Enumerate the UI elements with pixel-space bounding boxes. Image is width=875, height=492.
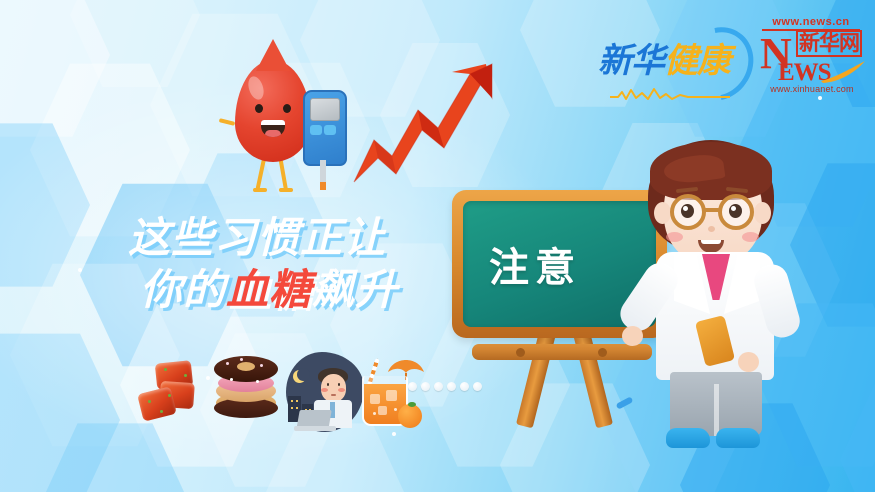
- drop-foot-right: [279, 188, 293, 192]
- habit-icon-donuts: [210, 354, 284, 436]
- drop-mouth: [261, 120, 285, 137]
- swoosh-icon: [820, 60, 866, 84]
- title-line-1: 这些习惯正让: [128, 212, 428, 264]
- doctor-hand-left: [622, 326, 643, 346]
- title-line-2: 你的血糖飙升: [140, 264, 428, 316]
- meter-button-left: [310, 125, 322, 135]
- meter-button-right: [324, 125, 336, 135]
- glucose-meter: [303, 90, 347, 166]
- title-prefix: 你的: [140, 266, 226, 313]
- easel-bolt-left: [516, 348, 525, 357]
- drop-eye-right: [283, 104, 291, 113]
- drop-body: [235, 60, 311, 162]
- drop-arm-left: [219, 118, 235, 126]
- habit-icon-staying-up-late: [286, 352, 364, 432]
- blackboard-text: 注意: [489, 235, 581, 293]
- doctor-blush-left: [666, 232, 683, 242]
- drop-eye-left: [255, 104, 263, 113]
- rising-trend-arrow: [352, 58, 502, 198]
- news-logo-cn-name: 新华网: [796, 33, 862, 55]
- moon-icon: [293, 370, 306, 383]
- drop-teeth: [261, 120, 285, 125]
- cartoon-doctor: [620, 140, 830, 450]
- health-logo-part2: 健康: [664, 42, 730, 80]
- meter-screen: [310, 98, 340, 121]
- drop-highlight: [246, 74, 267, 101]
- xinhua-news-logo[interactable]: www.news.cn N 新华网 EWS www.xinhuanet.com: [760, 16, 864, 96]
- title-suffix: 飙升: [312, 266, 398, 313]
- doctor-pupil-left: [681, 204, 694, 218]
- health-logo-text: 新华健康: [598, 44, 730, 78]
- test-strip-tip: [320, 182, 326, 190]
- drop-foot-left: [253, 188, 267, 192]
- doctor-shoe-left: [666, 428, 710, 448]
- doctor-blush-right: [742, 232, 759, 242]
- doctor-pants-seam: [714, 384, 719, 436]
- doctor-nose: [708, 226, 715, 232]
- title-highlight: 血糖: [226, 266, 312, 313]
- habit-icon-sugary-drink: [356, 354, 430, 436]
- ellipsis-dot: [421, 382, 430, 391]
- ellipsis-dot: [434, 382, 443, 391]
- page-title: 这些习惯正让 你的血糖飙升: [128, 212, 428, 316]
- habit-icon-braised-pork: [138, 356, 212, 438]
- doctor-glasses-bridge: [704, 208, 720, 212]
- drop-tongue: [265, 130, 281, 137]
- doctor-ear-right: [754, 202, 771, 224]
- orange-fruit: [398, 404, 422, 428]
- ellipsis-dot: [408, 382, 417, 391]
- easel-bolt-right: [598, 348, 607, 357]
- xinhua-health-logo[interactable]: 新华健康: [596, 24, 756, 102]
- blood-drop-character: [215, 60, 340, 195]
- doctor-ear-left: [654, 202, 671, 224]
- news-logo-bottom-url: www.xinhuanet.com: [760, 84, 864, 94]
- doctor-pupil-right: [729, 204, 742, 218]
- doctor-hand-right: [738, 352, 759, 372]
- health-logo-part1: 新华: [598, 42, 664, 80]
- doctor-shoe-right: [716, 428, 760, 448]
- poster-canvas: 新华健康 www.news.cn N 新华网 EWS www.xinhuanet…: [0, 0, 875, 492]
- habit-icon-row: [138, 352, 468, 440]
- heartbeat-icon: [610, 86, 730, 102]
